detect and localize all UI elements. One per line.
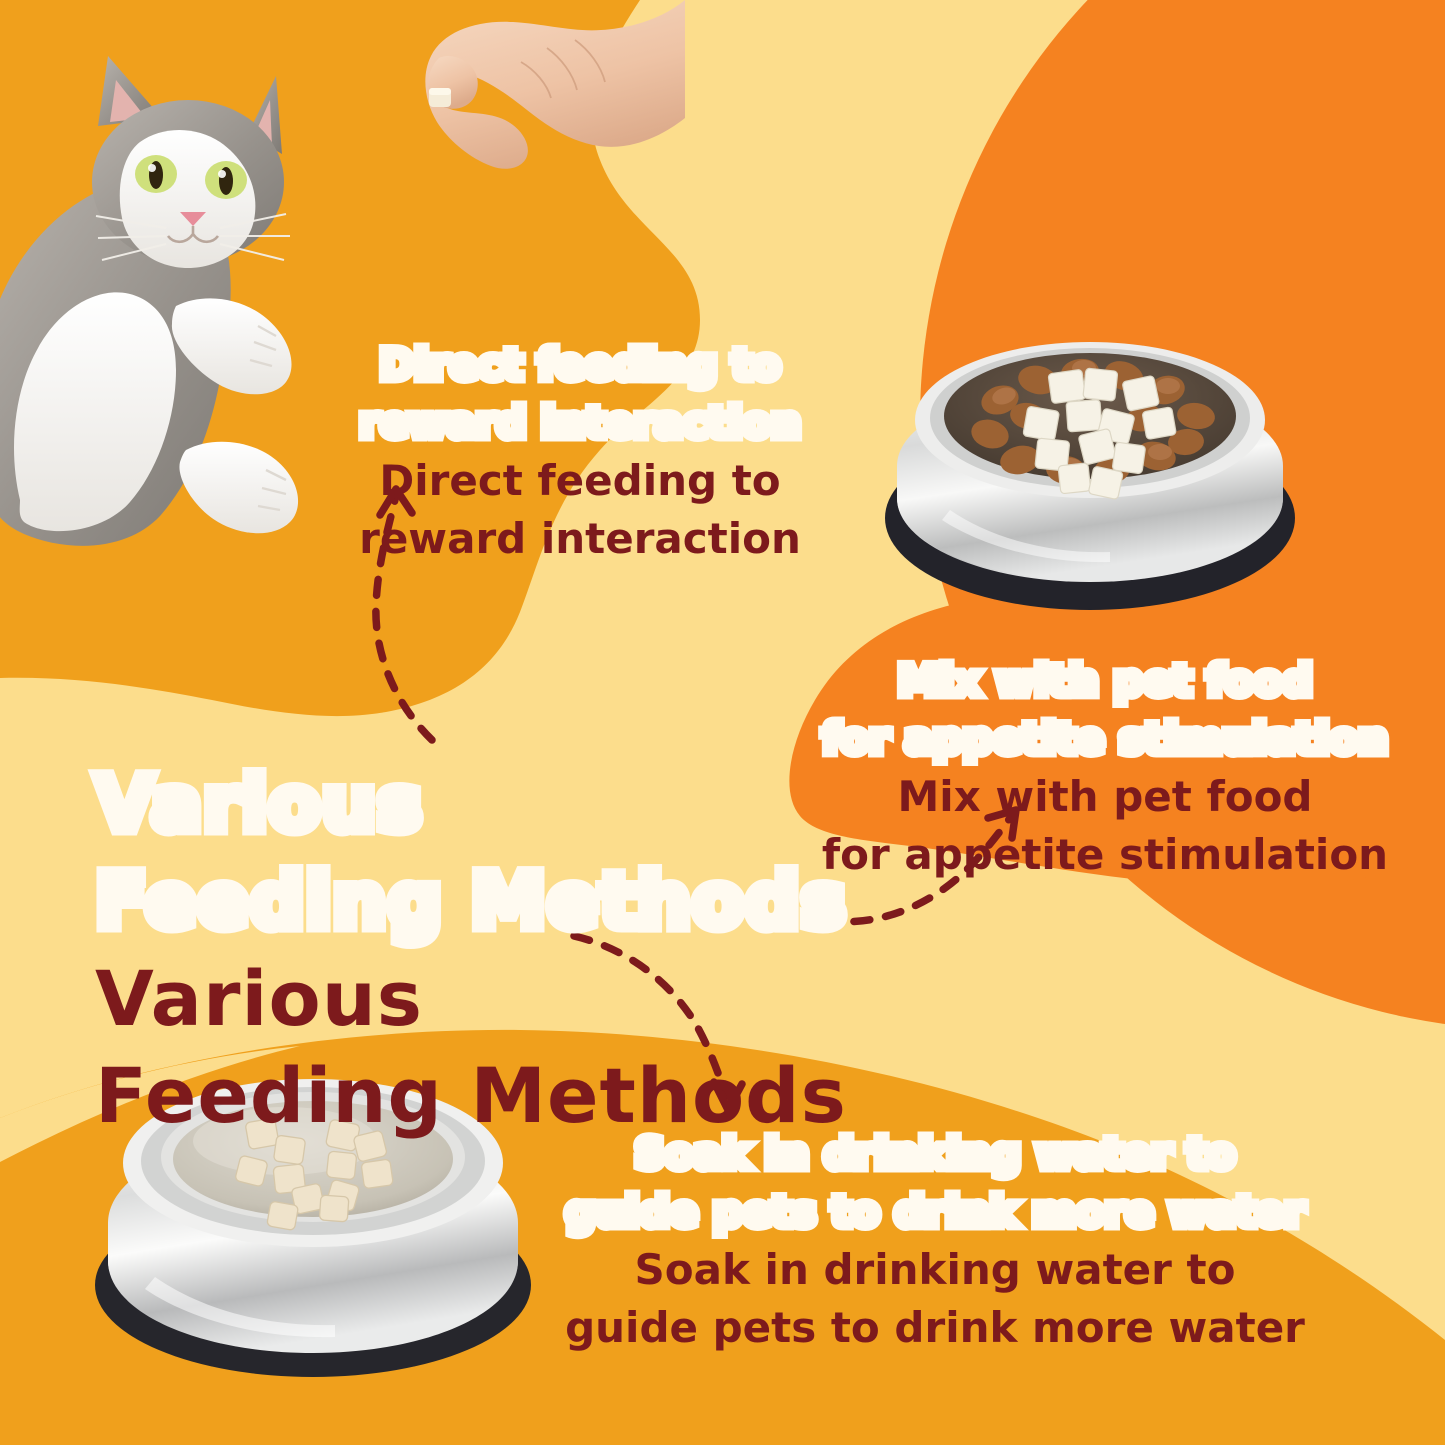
steel-bowl-with-kibble-and-treats-photo (880, 270, 1300, 620)
caption-mix-with-food-stroke: Mix with pet food for appetite stimulati… (790, 652, 1420, 768)
treat-cube-in-hand (429, 88, 451, 107)
caption-mix-with-food-fill: Mix with pet food for appetite stimulati… (790, 768, 1420, 884)
infographic-poster: Various Feeding Methods Various Feeding … (0, 0, 1445, 1445)
caption-direct-feeding-fill: Direct feeding to reward interaction (330, 452, 830, 568)
caption-soak-in-water-stroke: Soak in drinking water to guide pets to … (500, 1125, 1370, 1241)
hand-holding-treat-photo (395, 0, 685, 215)
caption-soak-in-water: Soak in drinking water to guide pets to … (500, 1125, 1370, 1415)
poster-title-fill: Various Feeding Methods (95, 950, 855, 1145)
caption-direct-feeding-stroke: Direct feeding to reward interaction (330, 336, 830, 452)
poster-title-stroke: Various Feeding Methods (95, 755, 855, 950)
caption-direct-feeding: Direct feeding to reward interaction Dir… (330, 336, 830, 626)
caption-soak-in-water-fill: Soak in drinking water to guide pets to … (500, 1241, 1370, 1357)
caption-mix-with-food: Mix with pet food for appetite stimulati… (790, 652, 1420, 942)
